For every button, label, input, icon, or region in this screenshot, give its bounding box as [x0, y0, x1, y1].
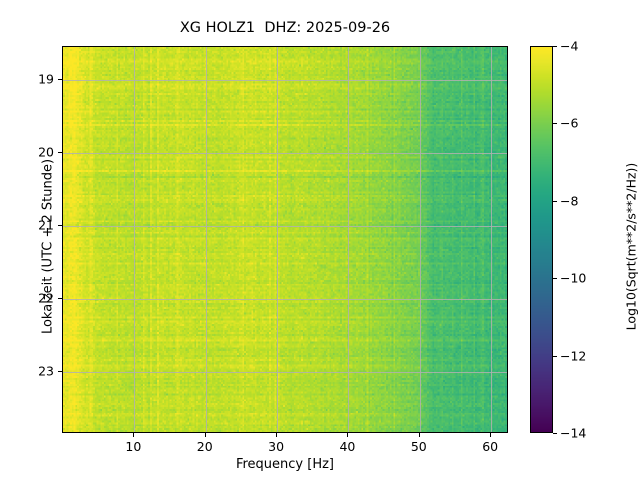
colorbar	[530, 46, 553, 433]
colorbar-tick-label: −12	[560, 348, 586, 363]
figure-title: XG HOLZ1 DHZ: 2025-09-26	[0, 20, 570, 36]
colorbar-tick-mark	[553, 123, 557, 124]
y-tick-mark	[58, 225, 62, 226]
colorbar-tick-label: −14	[560, 426, 586, 441]
y-tick-mark	[58, 79, 62, 80]
x-tick-label: 50	[411, 439, 427, 454]
colorbar-gradient	[531, 47, 552, 432]
y-tick-mark	[58, 152, 62, 153]
x-tick-label: 20	[197, 439, 213, 454]
colorbar-tick-label: −6	[560, 116, 578, 131]
spectrogram-image	[63, 47, 507, 432]
x-tick-label: 10	[125, 439, 141, 454]
colorbar-tick-label: −10	[560, 271, 586, 286]
colorbar-tick-label: −8	[560, 193, 578, 208]
x-tick-mark	[490, 433, 491, 437]
x-axis-label: Frequency [Hz]	[62, 457, 508, 472]
x-tick-mark	[276, 433, 277, 437]
x-tick-label: 30	[268, 439, 284, 454]
spectrogram-axes	[62, 46, 508, 433]
colorbar-label: Log10(Sqrt(m**2/s**2/Hz))	[624, 117, 639, 377]
x-tick-mark	[419, 433, 420, 437]
x-tick-mark	[347, 433, 348, 437]
spectrogram-figure: XG HOLZ1 DHZ: 2025-09-26 102030405060 Fr…	[0, 0, 640, 480]
y-tick-label: 19	[38, 71, 54, 86]
y-tick-mark	[58, 371, 62, 372]
colorbar-tick-mark	[553, 278, 557, 279]
colorbar-tick-mark	[553, 356, 557, 357]
colorbar-tick-mark	[553, 46, 557, 47]
colorbar-tick-label: −4	[560, 39, 578, 54]
y-axis-label: Lokalzeit (UTC + 2 Stunde)	[41, 117, 56, 377]
x-tick-mark	[133, 433, 134, 437]
x-tick-label: 40	[339, 439, 355, 454]
y-tick-mark	[58, 298, 62, 299]
colorbar-tick-mark	[553, 433, 557, 434]
x-tick-mark	[205, 433, 206, 437]
colorbar-tick-mark	[553, 201, 557, 202]
x-tick-label: 60	[482, 439, 498, 454]
